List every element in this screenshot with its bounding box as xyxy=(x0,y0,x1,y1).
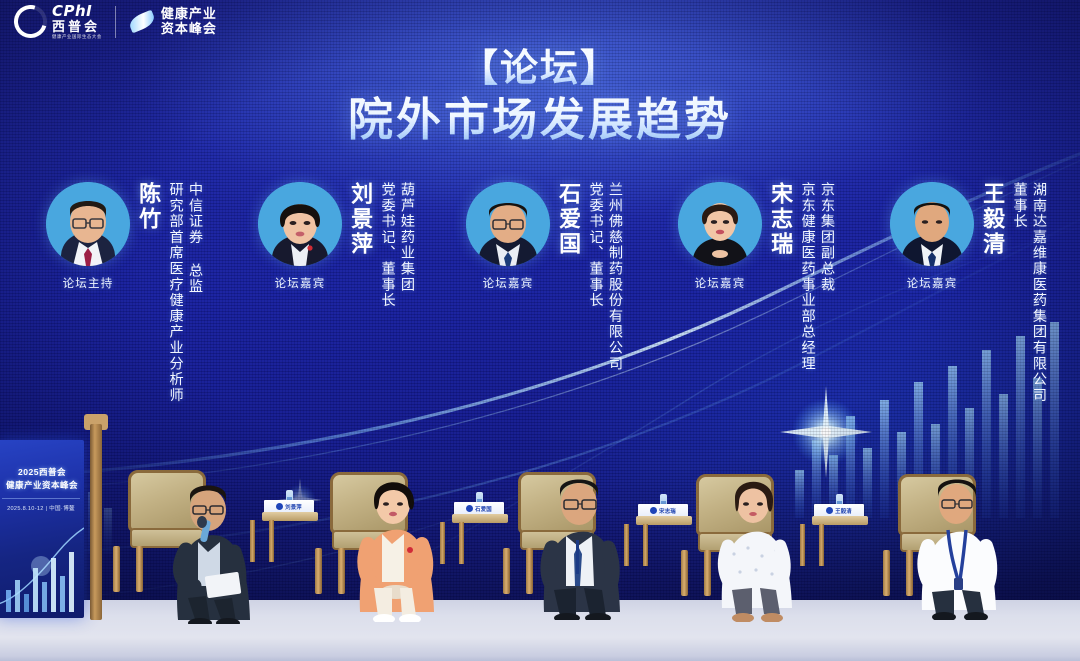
podium-date: 2025.8.10-12 | 中国·博鳌 xyxy=(0,504,84,512)
podium-rule xyxy=(2,498,80,499)
cphi-ring-icon xyxy=(8,0,53,44)
nameplate-text: 刘景萍 xyxy=(285,503,302,511)
podium-title-line1: 2025西普会 xyxy=(2,466,82,479)
cphi-logo-sub: 健康产业国际生态大会 xyxy=(52,35,102,39)
panelist-card-4: 论坛嘉宾 王毅清 湖南达嘉维康医药集团有限公司 董事长 xyxy=(890,182,1047,403)
leaf-icon xyxy=(127,10,157,34)
health-capital-line2: 资本峰会 xyxy=(161,22,217,37)
panelist-title-line2: 党委书记、董事长 xyxy=(379,182,395,308)
seated-person-3 xyxy=(700,422,810,622)
nameplate-logo-icon xyxy=(276,503,283,510)
forum-title-line2: 院外市场发展趋势 xyxy=(0,94,1080,146)
podium-banner: 2025西普会 健康产业资本峰会 2025.8.10-12 | 中国·博鳌 xyxy=(0,440,84,618)
panelist-title-line2: 党委书记、董事长 xyxy=(587,182,603,372)
panelist-name: 王毅清 xyxy=(981,182,1004,257)
avatar xyxy=(678,182,762,266)
cphi-logo-en: CPhI xyxy=(52,4,102,19)
nameplate-text: 王毅清 xyxy=(835,507,852,515)
cphi-logo: CPhI 西普会 健康产业国际生态大会 xyxy=(14,4,102,39)
nameplate-logo-icon xyxy=(826,507,833,514)
forum-title-line1: 【论坛】 xyxy=(0,48,1080,92)
panelist-title-line1: 湖南达嘉维康医药集团有限公司 xyxy=(1031,182,1047,403)
avatar xyxy=(466,182,550,266)
podium-title-line2: 健康产业资本峰会 xyxy=(2,479,82,492)
seated-person-2 xyxy=(520,420,640,620)
cphi-logo-cn: 西普会 xyxy=(52,20,102,33)
nameplate-logo-icon xyxy=(466,505,473,512)
panelist-title-line2: 研究部首席医疗健康产业分析师 xyxy=(167,182,183,403)
panelist-card-2: 论坛嘉宾 石爱国 兰州佛慈制药股份有限公司 党委书记、董事长 xyxy=(466,182,623,372)
avatar xyxy=(46,182,130,266)
seated-person-moderator xyxy=(150,424,270,624)
panelist-list: 论坛主持 陈竹 中信证券 总监 研究部首席医疗健康产业分析师 xyxy=(0,182,1080,412)
panelist-title-line1: 京东集团副总裁 xyxy=(819,182,835,372)
panelist-name: 陈竹 xyxy=(137,182,160,232)
panelist-role: 论坛嘉宾 xyxy=(695,275,746,291)
microphone-stand-mast xyxy=(90,424,102,620)
panelist-name: 宋志瑞 xyxy=(769,182,792,257)
nameplate-text: 宋志瑞 xyxy=(659,507,676,515)
panelist-card-0: 论坛主持 陈竹 中信证券 总监 研究部首席医疗健康产业分析师 xyxy=(46,182,203,403)
panelist-name: 刘景萍 xyxy=(349,182,372,257)
forum-title: 【论坛】 院外市场发展趋势 xyxy=(0,48,1080,145)
panelist-role: 论坛嘉宾 xyxy=(483,275,534,291)
nameplate-logo-icon xyxy=(650,507,657,514)
panelist-title-line1: 兰州佛慈制药股份有限公司 xyxy=(607,182,623,372)
conference-stage-photo: CPhI 西普会 健康产业国际生态大会 健康产业 资本峰会 【论坛】 院外市场发… xyxy=(0,0,1080,661)
podium-title: 2025西普会 健康产业资本峰会 xyxy=(2,466,82,492)
seated-person-1 xyxy=(338,422,453,622)
nameplate-text: 石爱国 xyxy=(475,505,492,513)
panelist-title-line1: 葫芦娃药业集团 xyxy=(399,182,415,308)
avatar xyxy=(258,182,342,266)
panelist-card-3: 论坛嘉宾 宋志瑞 京东集团副总裁 京东健康医药事业部总经理 xyxy=(678,182,835,372)
health-capital-line1: 健康产业 xyxy=(161,7,217,22)
panelist-title-line1: 中信证券 总监 xyxy=(187,182,203,403)
panelist-role: 论坛嘉宾 xyxy=(907,275,958,291)
logo-divider xyxy=(115,6,116,38)
panelist-title-line2: 京东健康医药事业部总经理 xyxy=(799,182,815,372)
avatar xyxy=(890,182,974,266)
panelist-role: 论坛主持 xyxy=(63,275,114,291)
panelist-title-line2: 董事长 xyxy=(1011,182,1027,403)
panelist-card-1: 论坛嘉宾 刘景萍 葫芦娃药业集团 党委书记、董事长 xyxy=(258,182,415,308)
panelist-role: 论坛嘉宾 xyxy=(275,275,326,291)
panelist-name: 石爱国 xyxy=(557,182,580,257)
header-logos: CPhI 西普会 健康产业国际生态大会 健康产业 资本峰会 xyxy=(14,4,217,39)
seated-person-4 xyxy=(898,420,1018,620)
health-capital-logo: 健康产业 资本峰会 xyxy=(129,7,217,36)
